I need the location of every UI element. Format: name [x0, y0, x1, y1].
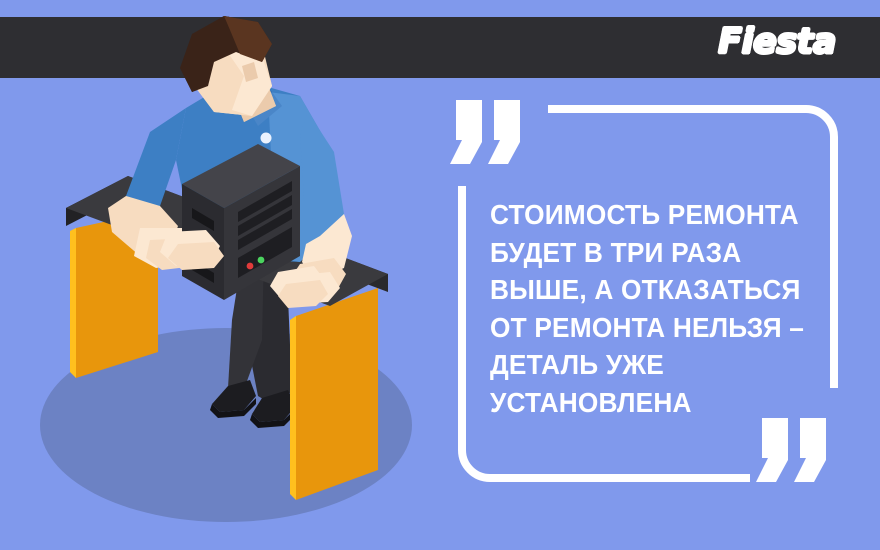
brand-logo: Fiesta — [718, 25, 836, 60]
tower-led-red — [247, 263, 254, 270]
tower-led-green — [258, 257, 265, 264]
quote-text: СТОИМОСТЬ РЕМОНТА БУДЕТ В ТРИ РАЗА ВЫШЕ,… — [490, 196, 810, 421]
quote-line: ДЕТАЛЬ УЖЕ — [490, 346, 810, 384]
illustration-isometric-technician — [0, 0, 460, 550]
quote-card: СТОИМОСТЬ РЕМОНТА БУДЕТ В ТРИ РАЗА ВЫШЕ,… — [0, 0, 880, 550]
quote-line: ОТ РЕМОНТА НЕЛЬЗЯ – — [490, 309, 810, 347]
frame-left-edge — [462, 186, 490, 478]
desk-leg-right — [290, 288, 378, 500]
quote-line: УСТАНОВЛЕНА — [490, 384, 810, 422]
frame-top-edge — [548, 109, 834, 137]
close-quote-mark — [756, 418, 826, 482]
quote-line: БУДЕТ В ТРИ РАЗА — [490, 234, 810, 272]
open-quote-mark — [450, 100, 520, 164]
quote-line: СТОИМОСТЬ РЕМОНТА — [490, 196, 810, 234]
quote-line: ВЫШЕ, А ОТКАЗАТЬСЯ — [490, 271, 810, 309]
